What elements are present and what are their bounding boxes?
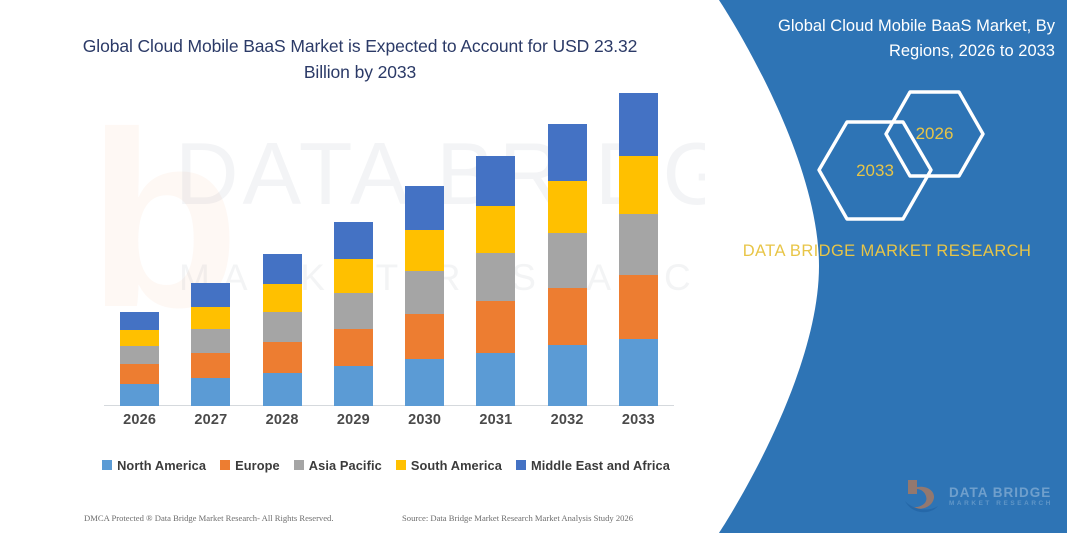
legend-item-europe[interactable]: Europe (220, 458, 280, 473)
legend-label: South America (411, 458, 502, 473)
stacked-bar[interactable] (476, 156, 515, 406)
bar-segment-europe[interactable] (548, 288, 587, 345)
bar-segment-south-america[interactable] (476, 206, 515, 253)
footer: DMCA Protected ® Data Bridge Market Rese… (0, 508, 720, 528)
bar-column-2032 (532, 124, 603, 406)
bar-segment-asia-pacific[interactable] (405, 271, 444, 314)
bar-column-2030 (389, 186, 460, 406)
bar-segment-north-america[interactable] (476, 353, 515, 406)
bar-segment-middle-east-and-africa[interactable] (191, 283, 230, 307)
bar-segment-south-america[interactable] (619, 156, 658, 214)
bar-segment-europe[interactable] (619, 275, 658, 339)
bar-segment-south-america[interactable] (120, 330, 159, 346)
legend-label: Asia Pacific (309, 458, 382, 473)
footer-source-text: Source: Data Bridge Market Research Mark… (402, 513, 633, 523)
x-axis-labels: 20262027202820292030203120322033 (104, 412, 674, 438)
stacked-bar[interactable] (334, 222, 373, 406)
hexagon-2026-label: 2026 (916, 124, 954, 144)
brand-logo-words: DATA BRIDGE MARKET RESEARCH (949, 485, 1053, 507)
bar-column-2027 (175, 283, 246, 406)
bar-column-2029 (318, 222, 389, 406)
bar-segment-asia-pacific[interactable] (476, 253, 515, 301)
bar-column-2031 (460, 156, 531, 406)
stacked-bar[interactable] (263, 254, 302, 406)
bar-segment-south-america[interactable] (263, 284, 302, 312)
x-axis-label-2030: 2030 (389, 412, 460, 428)
bar-segment-north-america[interactable] (619, 339, 658, 406)
bar-segment-north-america[interactable] (334, 366, 373, 406)
bar-segment-middle-east-and-africa[interactable] (476, 156, 515, 206)
bar-segment-middle-east-and-africa[interactable] (405, 186, 444, 230)
legend-label: Middle East and Africa (531, 458, 670, 473)
stacked-bar[interactable] (405, 186, 444, 406)
brand-name: DATA BRIDGE MARKET RESEARCH (737, 238, 1037, 264)
bar-segment-europe[interactable] (191, 353, 230, 378)
chart-panel: b DATA BRIDGE MARKET RESEARCH Global Clo… (0, 0, 760, 533)
x-axis-label-2033: 2033 (603, 412, 674, 428)
brand-logo: DATA BRIDGE MARKET RESEARCH (903, 474, 1053, 518)
bar-segment-north-america[interactable] (191, 378, 230, 406)
legend-swatch-icon (220, 460, 230, 470)
bar-column-2026 (104, 312, 175, 406)
bar-segment-middle-east-and-africa[interactable] (334, 222, 373, 259)
bar-segment-asia-pacific[interactable] (263, 312, 302, 342)
bar-segment-north-america[interactable] (548, 345, 587, 406)
chart-title: Global Cloud Mobile BaaS Market is Expec… (60, 33, 660, 85)
bar-segment-europe[interactable] (120, 364, 159, 384)
legend-swatch-icon (102, 460, 112, 470)
stacked-bar[interactable] (548, 124, 587, 406)
bar-segment-asia-pacific[interactable] (619, 214, 658, 275)
x-axis-label-2032: 2032 (532, 412, 603, 428)
bar-segment-north-america[interactable] (263, 373, 302, 406)
bar-segment-south-america[interactable] (334, 259, 373, 293)
bar-segment-north-america[interactable] (120, 384, 159, 406)
x-axis-label-2026: 2026 (104, 412, 175, 428)
x-axis-label-2029: 2029 (318, 412, 389, 428)
bar-column-2028 (247, 254, 318, 406)
stacked-bar-chart (104, 120, 674, 406)
legend-item-north-america[interactable]: North America (102, 458, 206, 473)
stacked-bar[interactable] (120, 312, 159, 406)
x-axis-label-2028: 2028 (247, 412, 318, 428)
chart-legend: North AmericaEuropeAsia PacificSouth Ame… (96, 455, 676, 475)
bar-segment-europe[interactable] (334, 329, 373, 366)
footer-dmca-text: DMCA Protected ® Data Bridge Market Rese… (84, 513, 334, 523)
x-axis-label-2031: 2031 (460, 412, 531, 428)
hexagon-group: 2026 2033 (707, 88, 1067, 208)
legend-swatch-icon (396, 460, 406, 470)
stacked-bar[interactable] (619, 93, 658, 406)
bar-segment-north-america[interactable] (405, 359, 444, 406)
bar-segment-middle-east-and-africa[interactable] (548, 124, 587, 181)
bar-segment-europe[interactable] (263, 342, 302, 373)
brand-panel: Global Cloud Mobile BaaS Market, By Regi… (707, 0, 1067, 533)
bar-segment-asia-pacific[interactable] (334, 293, 373, 329)
bar-segment-asia-pacific[interactable] (120, 346, 159, 364)
legend-swatch-icon (294, 460, 304, 470)
brand-logo-mark-icon (903, 477, 943, 515)
stacked-bar[interactable] (191, 283, 230, 406)
bar-column-2033 (603, 93, 674, 406)
legend-item-south-america[interactable]: South America (396, 458, 502, 473)
legend-item-asia-pacific[interactable]: Asia Pacific (294, 458, 382, 473)
legend-label: Europe (235, 458, 280, 473)
brand-logo-line2: MARKET RESEARCH (949, 500, 1053, 507)
bar-segment-south-america[interactable] (191, 307, 230, 329)
bar-segment-asia-pacific[interactable] (548, 233, 587, 288)
bar-segment-middle-east-and-africa[interactable] (263, 254, 302, 284)
legend-label: North America (117, 458, 206, 473)
bar-segment-europe[interactable] (405, 314, 444, 359)
brand-panel-title: Global Cloud Mobile BaaS Market, By Regi… (735, 14, 1055, 64)
legend-item-middle-east-and-africa[interactable]: Middle East and Africa (516, 458, 670, 473)
bar-segment-middle-east-and-africa[interactable] (619, 93, 658, 156)
legend-swatch-icon (516, 460, 526, 470)
bar-segment-asia-pacific[interactable] (191, 329, 230, 353)
hexagon-2033-label: 2033 (856, 161, 894, 181)
bar-segment-europe[interactable] (476, 301, 515, 353)
bar-segment-south-america[interactable] (405, 230, 444, 271)
x-axis-label-2027: 2027 (175, 412, 246, 428)
bar-segment-south-america[interactable] (548, 181, 587, 233)
bar-segment-middle-east-and-africa[interactable] (120, 312, 159, 330)
brand-panel-shape (707, 0, 1067, 533)
brand-logo-line1: DATA BRIDGE (949, 485, 1053, 500)
